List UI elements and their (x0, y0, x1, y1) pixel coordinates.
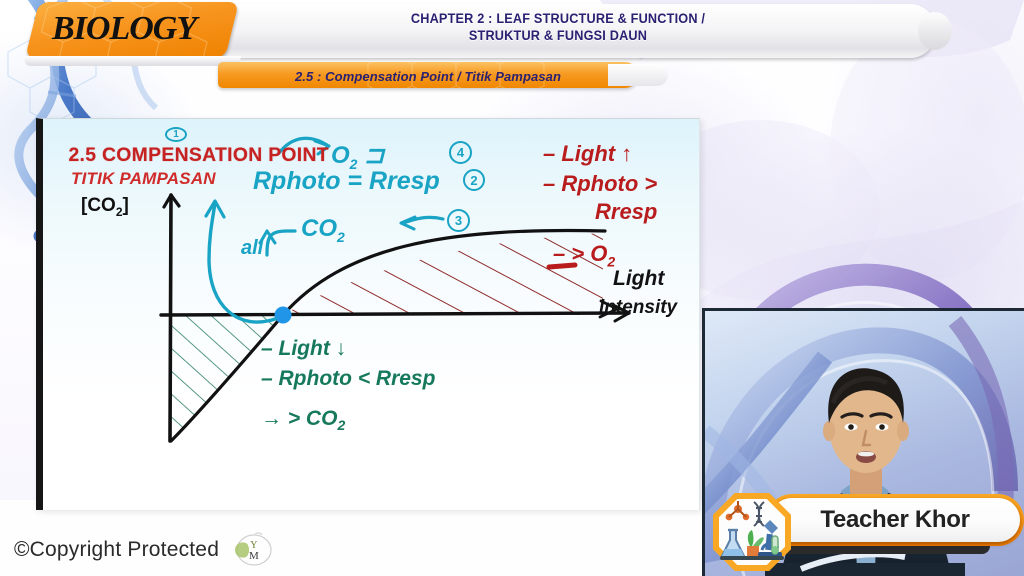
header-orange-edge (23, 56, 241, 66)
test-tubes-icon (772, 536, 778, 554)
svg-text:M: M (249, 550, 259, 562)
green-note-more-co2-text: → > CO (261, 407, 337, 430)
y-axis-label-close: ] (123, 195, 129, 216)
chapter-title-line1: CHAPTER 2 : LEAF STRUCTURE & FUNCTION / (218, 10, 899, 27)
red-note-rphoto-gt: – Rphoto > (543, 171, 657, 197)
science-badge-icon (712, 492, 792, 572)
callout-1: 1 (165, 127, 187, 142)
copyright-text: ©Copyright Protected (14, 538, 219, 562)
y-axis (170, 195, 171, 441)
watermark-logo: Y M (227, 532, 273, 568)
note-co2-blue: CO2 (301, 215, 345, 245)
subtitle-text: 2.5 : Compensation Point / Titik Pampasa… (218, 65, 638, 87)
y-axis-label-sub: 2 (116, 205, 123, 219)
callout-2: 2 (463, 169, 485, 191)
y-axis-label: [CO2] (81, 195, 129, 219)
callout-4: 4 (449, 141, 472, 164)
presenter-nameplate: Teacher Khor (770, 498, 1020, 542)
note-all: all (241, 237, 263, 260)
note-rphoto-equals-rresp: Rphoto = Rresp (253, 167, 440, 196)
red-note-more-o2: – > O2 (553, 241, 615, 269)
note-o2-tail: ⊐ (364, 142, 384, 169)
note-co2-text: CO (301, 215, 337, 242)
red-note-light-up: – Light ↑ (543, 141, 632, 167)
x-axis-label-line2: intensity (599, 297, 677, 319)
badge-base-bar (720, 556, 784, 560)
header-banner: BIOLOGY CHAPTER 2 : LEAF STRUCTURE & FUN… (0, 0, 1024, 98)
green-note-more-co2: → > CO2 (261, 407, 345, 433)
subject-logo: BIOLOGY (52, 10, 196, 48)
green-note-rphoto-lt: – Rphoto < Rresp (261, 367, 435, 391)
green-note-light-down: – Light ↓ (261, 337, 346, 361)
callout-3: 3 (447, 209, 470, 232)
red-note-rresp: Rresp (595, 199, 657, 225)
compensation-point-dot (275, 307, 292, 324)
x-axis-label-line1: Light (613, 267, 664, 291)
chapter-title: CHAPTER 2 : LEAF STRUCTURE & FUNCTION / … (218, 10, 899, 44)
whiteboard: 2.5 COMPENSATION POINT TITIK PAMPASAN [C… (36, 118, 700, 510)
chapter-title-line2: STRUKTUR & FUNGSI DAUN (218, 27, 899, 44)
note-o2-text: O (331, 142, 350, 169)
green-note-more-co2-sub: 2 (337, 417, 345, 433)
presenter-name: Teacher Khor (770, 498, 1020, 542)
teal-pointer-arrow (209, 203, 275, 322)
copyright-notice: ©Copyright Protected Y M (14, 532, 273, 568)
red-note-more-o2-text: – > O (553, 241, 607, 266)
y-axis-label-main: [CO (81, 195, 116, 216)
note-co2-sub: 2 (337, 229, 345, 245)
board-title-my: TITIK PAMPASAN (71, 169, 216, 189)
board-title-en: 2.5 COMPENSATION POINT (68, 145, 328, 167)
